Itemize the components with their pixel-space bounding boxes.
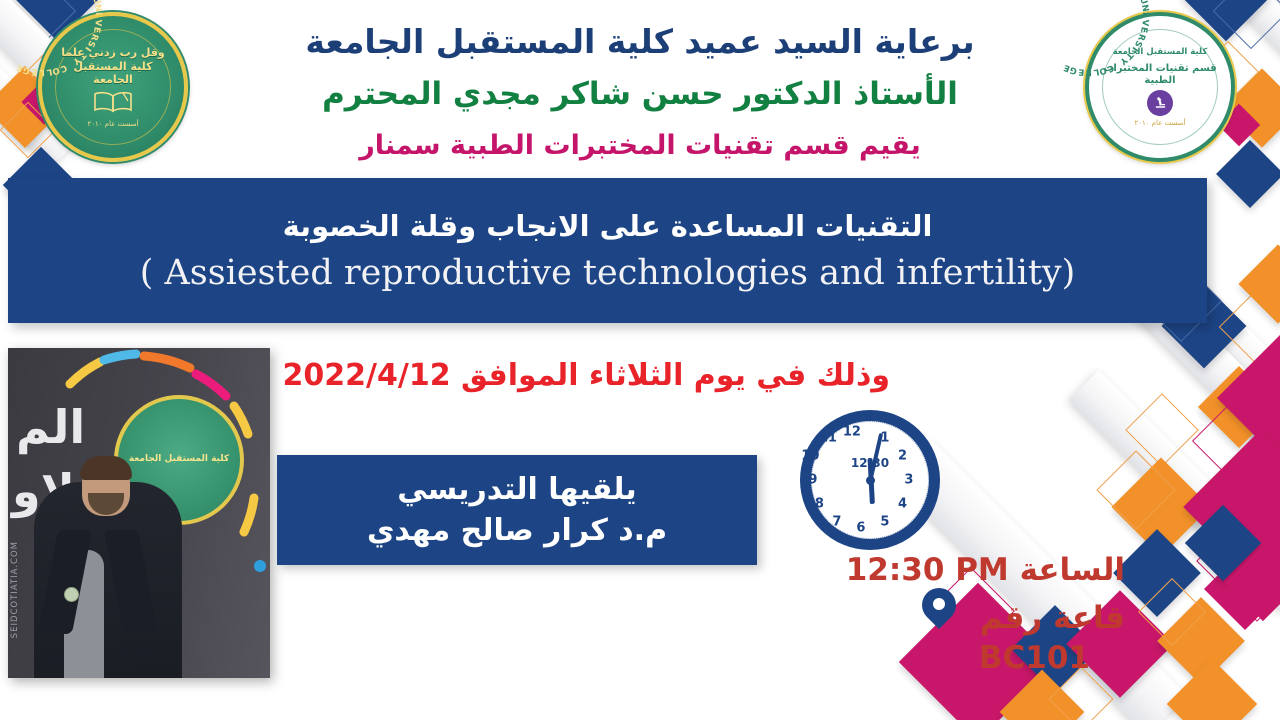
photo-watermark: SEIDCOTIATIA.COM — [10, 541, 20, 638]
deco-diamond — [1183, 429, 1280, 585]
deco-diamond — [1112, 458, 1211, 557]
speaker-name: م.د كرار صالح مهدي — [367, 513, 667, 548]
seminar-title-english: ( Assiested reproductive technologies an… — [140, 253, 1076, 293]
photo-seal-label: كلية المستقبل الجامعة — [129, 454, 229, 465]
seminar-title-banner: التقنيات المساعدة على الانجاب وقلة الخصو… — [8, 178, 1207, 323]
hall-value: BC101 — [979, 640, 1090, 676]
time-label: الساعة — [1020, 552, 1125, 588]
clock-icon: 121234567891011 12:30 — [800, 410, 940, 550]
deco-diamond — [1238, 244, 1280, 323]
logo-year-left: أسست عام ٢٠١٠ — [87, 120, 138, 128]
deco-diamond — [1185, 505, 1261, 581]
time-row: الساعة 12:30 PM — [832, 552, 1125, 588]
deco-diamond — [1113, 529, 1201, 617]
speaker-lapel-pin — [64, 587, 79, 602]
deco-diamond — [1125, 393, 1199, 467]
seminar-date: وذلك في يوم الثلاثاء الموافق 2022/4/12 — [290, 358, 890, 393]
deco-diamond — [1217, 333, 1280, 463]
poster-canvas: AL-MUSTAQBAL UNIVERSITY COLLEGE وقل رب ز… — [0, 0, 1280, 720]
deco-diamond — [1196, 500, 1280, 622]
deco-diamond — [1138, 578, 1206, 646]
logo-year-right: أسست عام ٢٠١٠ — [1134, 119, 1185, 127]
deco-diamond — [1225, 545, 1280, 621]
time-value: 12:30 PM — [846, 552, 1009, 588]
deco-diamond — [1198, 366, 1280, 448]
speaker-name-box: يلقيها التدريسي م.د كرار صالح مهدي — [277, 455, 757, 565]
photo-banner-text-a: الم — [16, 400, 85, 454]
deco-diamond — [1192, 400, 1274, 482]
seminar-title-arabic: التقنيات المساعدة على الانجاب وقلة الخصو… — [283, 209, 933, 243]
pin-hole — [933, 598, 945, 610]
speaker-hair — [80, 456, 132, 480]
organizer-line: يقيم قسم تقنيات المختبرات الطبية سمنار — [0, 130, 1280, 161]
deco-diamond — [1157, 597, 1245, 685]
deco-diamond — [1000, 670, 1085, 720]
deco-diamond — [1096, 450, 1175, 529]
deco-diamond — [1204, 548, 1280, 630]
speaker-photo: الم لاو كلية المستقبل الجامعة SEIDCOTIAT… — [8, 348, 270, 678]
deco-diamond — [1219, 289, 1280, 365]
patronage-line: برعاية السيد عميد كلية المستقبل الجامعة — [0, 22, 1280, 61]
speaker-intro-label: يلقيها التدريسي — [397, 472, 636, 507]
hall-label: قاعة رقم — [980, 600, 1125, 636]
location-pin-icon — [922, 588, 956, 634]
clock-center-pin — [866, 476, 875, 485]
dean-name-line: الأستاذ الدكتور حسن شاكر مجدي المحترم — [0, 76, 1280, 112]
deco-diamond — [1167, 659, 1258, 720]
